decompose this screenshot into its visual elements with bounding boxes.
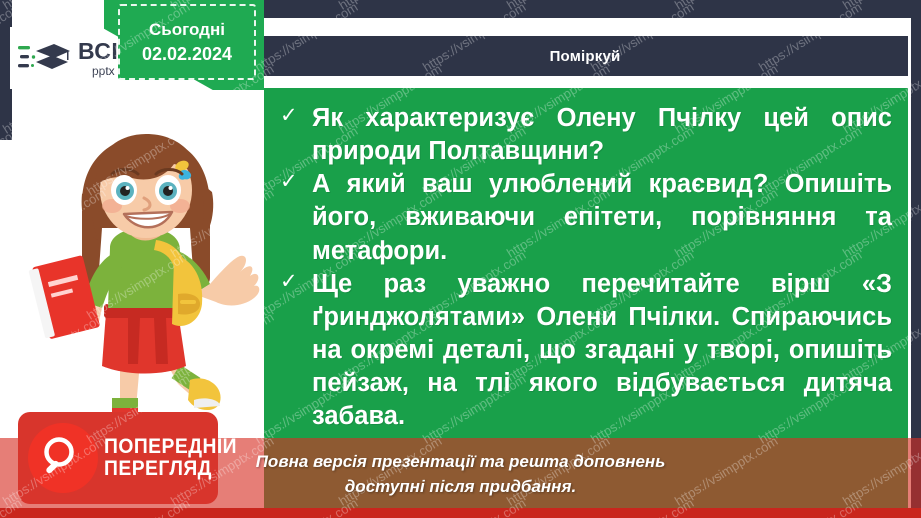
watermark-text: https://vsimpptx.com — [0, 0, 108, 13]
footer-strip — [0, 508, 921, 518]
list-item: ✓ Ще раз уважно перечитайте вірш «З ґрин… — [280, 268, 892, 434]
bullet-line: А який ваш улюблений краєвид? — [312, 170, 768, 198]
bullet-text: А який ваш улюблений краєвид? Опишіть йо… — [312, 168, 892, 267]
check-icon: ✓ — [280, 268, 302, 295]
page-title: Поміркуй — [550, 48, 621, 65]
bullet-line: Як характеризує Олену Пчілку цей — [312, 104, 809, 132]
magnifier-icon — [28, 423, 98, 493]
date-badge-label: Сьогодні — [149, 20, 225, 40]
graduation-cap-icon — [18, 38, 72, 78]
check-icon: ✓ — [280, 102, 302, 129]
preview-badge[interactable]: ПОПЕРЕДНІЙ ПЕРЕГЛЯД — [18, 412, 218, 504]
preview-label-line1: ПОПЕРЕДНІЙ — [104, 436, 237, 458]
slide-header-bar: Поміркуй — [262, 36, 908, 76]
frame-edge-top — [258, 0, 921, 18]
list-item: ✓ А який ваш улюблений краєвид? Опишіть … — [280, 168, 892, 267]
schoolgirl-illustration — [28, 108, 264, 438]
notice-line-2: доступні після придбання. — [345, 475, 576, 500]
watermark-text: https://vsimpptx.com — [0, 247, 24, 323]
bullet-line: Ще раз уважно перечитайте вірш «З — [312, 270, 892, 298]
bullet-line: ґринджолятами» Олени Пчілки. — [312, 303, 720, 331]
bullet-text: Ще раз уважно перечитайте вірш «З ґриндж… — [312, 268, 892, 434]
notice-line-1: Повна версія презентації та решта доповн… — [256, 450, 666, 475]
slide-canvas: ВСІМ pptx Сьогодні 02.02.2024 Поміркуй — [0, 0, 921, 518]
date-badge-value: 02.02.2024 — [142, 44, 232, 65]
preview-label-line2: ПЕРЕГЛЯД — [104, 458, 237, 480]
list-item: ✓ Як характеризує Олену Пчілку цей опис … — [280, 102, 892, 168]
date-badge: Сьогодні 02.02.2024 — [118, 4, 256, 80]
check-icon: ✓ — [280, 168, 302, 195]
bullet-text: Як характеризує Олену Пчілку цей опис пр… — [312, 102, 892, 168]
